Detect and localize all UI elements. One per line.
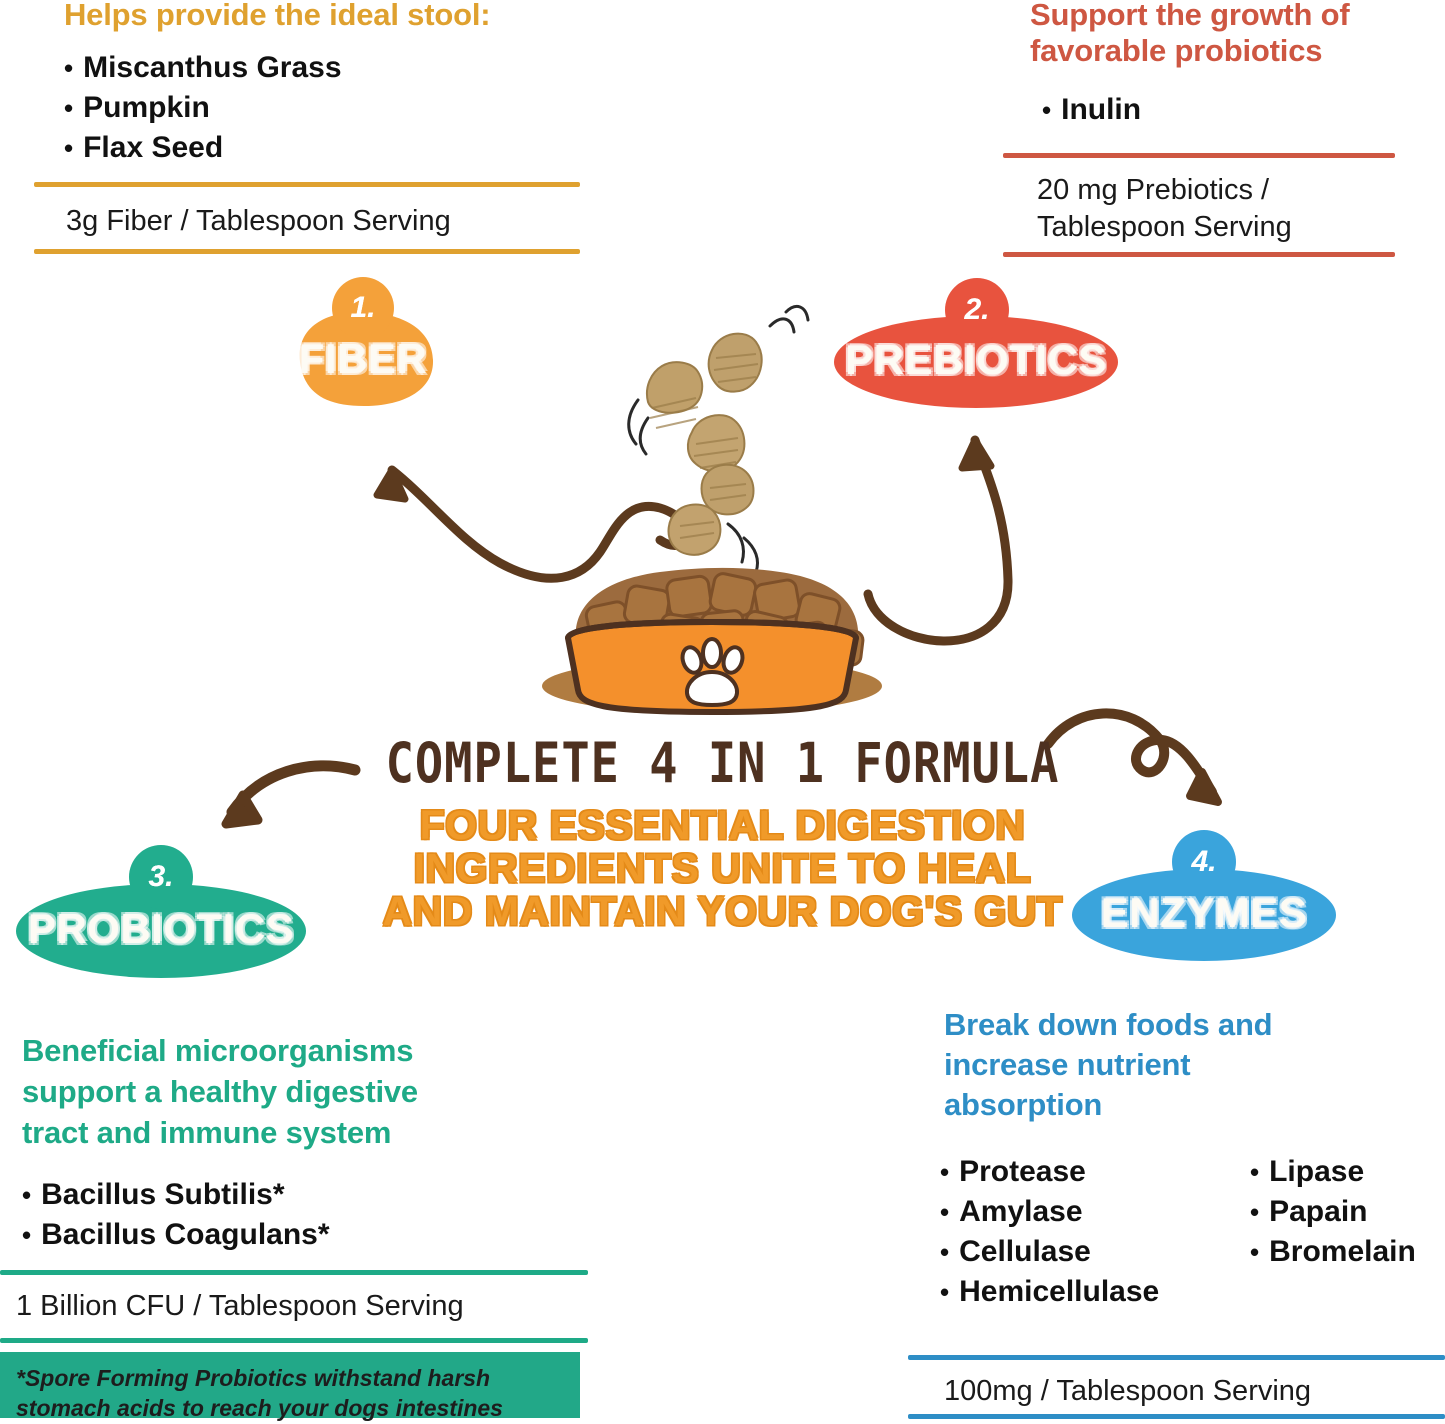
center-subtitle-line3: AND MAINTAIN YOUR DOG'S GUT: [0, 888, 1445, 936]
paw-print-icon: [679, 639, 745, 705]
prebiotics-number: 2.: [964, 293, 989, 327]
badge-fiber[interactable]: 1. FIBER: [288, 280, 438, 412]
badge-prebiotics[interactable]: 2. PREBIOTICS: [834, 278, 1118, 408]
fiber-number-badge: 1.: [332, 277, 394, 339]
center-subtitle-line1: FOUR ESSENTIAL DIGESTION: [0, 802, 1445, 850]
arrow-to-fiber: [377, 470, 686, 578]
center-illustration: [0, 0, 1445, 1418]
center-subtitle-line2: INGREDIENTS UNITE TO HEAL: [0, 845, 1445, 893]
prebiotics-number-badge: 2.: [945, 278, 1009, 342]
center-title: COMPLETE 4 IN 1 FORMULA: [0, 731, 1445, 796]
arrow-to-prebiotics: [868, 440, 1008, 641]
prebiotics-label: PREBIOTICS: [834, 336, 1118, 384]
dog-food-bowl: [568, 622, 856, 712]
fiber-number: 1.: [350, 291, 375, 325]
fiber-label: FIBER: [288, 335, 438, 383]
falling-kibble: [629, 306, 808, 572]
